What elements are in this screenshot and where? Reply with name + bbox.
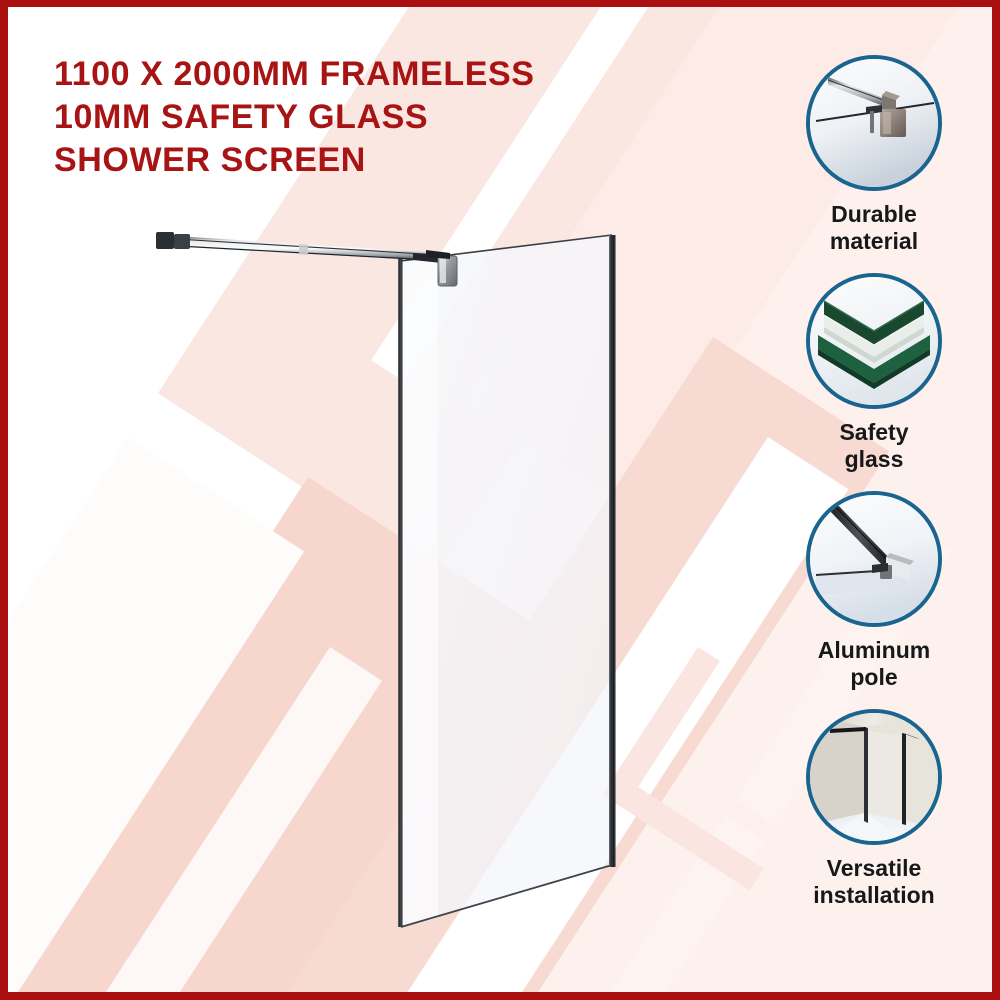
badge-label-line-2: installation xyxy=(768,882,980,909)
feature-badge-versatile-installation: Versatile installation xyxy=(768,709,980,909)
title-line-1: 1100 x 2000mm Frameless xyxy=(54,53,694,96)
page-title: 1100 x 2000mm Frameless 10mm Safety Glas… xyxy=(54,53,694,182)
feature-badge-list: Durable material xyxy=(768,55,980,927)
glass-panel xyxy=(401,235,612,927)
feature-badge-safety-glass: Safety glass xyxy=(768,273,980,473)
badge-label-line-1: Aluminum xyxy=(768,637,980,664)
badge-label-line-2: glass xyxy=(768,446,980,473)
title-line-3: Shower Screen xyxy=(54,139,694,182)
feature-badge-durable-material: Durable material xyxy=(768,55,980,255)
badge-label-line-2: material xyxy=(768,228,980,255)
badge-label-line-1: Safety xyxy=(768,419,980,446)
feature-badge-label: Durable material xyxy=(768,201,980,255)
frame-border-left xyxy=(0,0,8,1000)
wall-bracket-icon xyxy=(806,55,942,191)
frame-border-top xyxy=(0,0,1000,7)
feature-badge-aluminum-pole: Aluminum pole xyxy=(768,491,980,691)
shower-enclosure-icon xyxy=(806,709,942,845)
glass-right-edge xyxy=(609,235,616,867)
feature-badge-label: Versatile installation xyxy=(768,855,980,909)
feature-badge-label: Aluminum pole xyxy=(768,637,980,691)
aluminum-pole-icon xyxy=(806,491,942,627)
badge-label-line-1: Versatile xyxy=(768,855,980,882)
product-listing-image: 1100 x 2000mm Frameless 10mm Safety Glas… xyxy=(0,0,1000,1000)
glass-left-edge xyxy=(398,259,403,927)
badge-label-line-1: Durable xyxy=(768,201,980,228)
title-line-2: 10mm Safety Glass xyxy=(54,96,694,139)
support-pole xyxy=(156,232,442,263)
laminated-glass-layers-icon xyxy=(806,273,942,409)
frame-border-bottom xyxy=(0,992,1000,1000)
badge-label-line-2: pole xyxy=(768,664,980,691)
feature-badge-label: Safety glass xyxy=(768,419,980,473)
image-canvas: 1100 x 2000mm Frameless 10mm Safety Glas… xyxy=(8,7,992,992)
frame-border-right xyxy=(992,0,1000,1000)
